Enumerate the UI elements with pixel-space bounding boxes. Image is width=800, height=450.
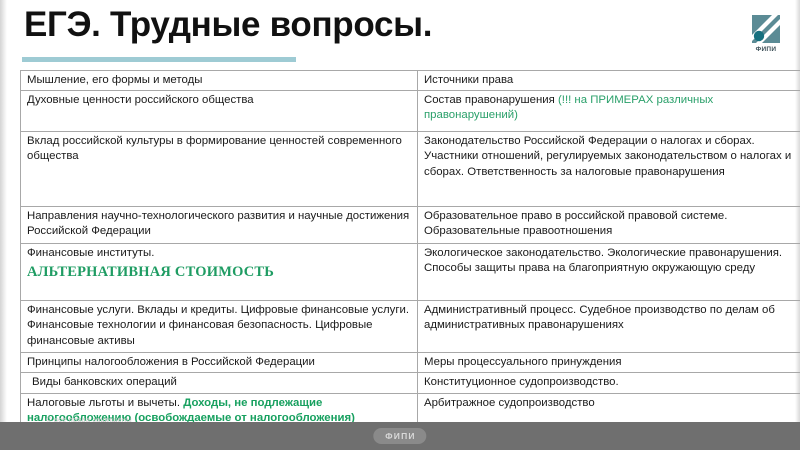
slide-left-edge-shadow xyxy=(0,0,7,422)
cell-text: Виды банковских операций xyxy=(32,376,177,388)
cell-text: Образовательное право в российской право… xyxy=(424,210,727,237)
cell-text: Финансовые услуги. Вклады и кредиты. Циф… xyxy=(27,304,409,346)
table-row: Мышление, его формы и методы Источники п… xyxy=(21,71,800,91)
table-row: Духовные ценности российского общества С… xyxy=(21,91,800,132)
table-row: Виды банковских операций Конституционное… xyxy=(21,373,800,393)
cell-text: Вклад российской культуры в формирование… xyxy=(27,135,402,162)
cell-text-emphasis: АЛЬТЕРНАТИВНАЯ СТОИМОСТЬ xyxy=(27,265,412,280)
fipi-logo-label: ФИПИ xyxy=(742,46,790,53)
cell-text: Административный процесс. Судебное произ… xyxy=(424,304,775,331)
title-underline-rule xyxy=(22,57,296,62)
player-bottom-bar: ФИПИ xyxy=(0,422,800,450)
table-cell-left: Финансовые институты. АЛЬТЕРНАТИВНАЯ СТО… xyxy=(21,244,418,301)
cell-text: Законодательство Российской Федерации о … xyxy=(424,135,791,177)
table-cell-left: Направления научно-технологического разв… xyxy=(21,207,418,244)
cell-text: Принципы налогообложения в Российской Фе… xyxy=(27,356,315,368)
cell-text: Финансовые институты. xyxy=(27,247,154,259)
table-row: Финансовые институты. АЛЬТЕРНАТИВНАЯ СТО… xyxy=(21,244,800,301)
cell-text: Экологическое законодательство. Экологич… xyxy=(424,247,782,274)
fipi-logo-mark-icon xyxy=(750,13,782,45)
cell-text: Состав правонарушения xyxy=(424,94,558,106)
table-cell-right: Законодательство Российской Федерации о … xyxy=(418,132,800,207)
fipi-watermark-badge: ФИПИ xyxy=(373,428,426,444)
table-cell-left: Духовные ценности российского общества xyxy=(21,91,418,132)
fipi-logo: ФИПИ xyxy=(742,13,790,53)
slide-canvas: ЕГЭ. Трудные вопросы. ФИПИ Мышление, его… xyxy=(0,0,800,450)
table-cell-right: Источники права xyxy=(418,71,800,91)
table-cell-left: Принципы налогообложения в Российской Фе… xyxy=(21,353,418,373)
table-cell-right: Конституционное судопроизводство. xyxy=(418,373,800,393)
cell-text: Духовные ценности российского общества xyxy=(27,94,254,106)
table-cell-right: Образовательное право в российской право… xyxy=(418,207,800,244)
page-title: ЕГЭ. Трудные вопросы. xyxy=(24,5,432,45)
table-cell-right: Экологическое законодательство. Экологич… xyxy=(418,244,800,301)
cell-text: Мышление, его формы и методы xyxy=(27,74,202,86)
table-row: Направления научно-технологического разв… xyxy=(21,207,800,244)
cell-text: Направления научно-технологического разв… xyxy=(27,210,409,237)
table-cell-right: Административный процесс. Судебное произ… xyxy=(418,301,800,353)
table-cell-left: Вклад российской культуры в формирование… xyxy=(21,132,418,207)
cell-text: Конституционное судопроизводство. xyxy=(424,376,619,388)
topics-table: Мышление, его формы и методы Источники п… xyxy=(20,70,800,435)
cell-text: Источники права xyxy=(424,74,513,86)
table-row: Финансовые услуги. Вклады и кредиты. Циф… xyxy=(21,301,800,353)
cell-text: Арбитражное судопроизводство xyxy=(424,397,595,409)
table-cell-right: Состав правонарушения (!!! на ПРИМЕРАХ р… xyxy=(418,91,800,132)
table-cell-left: Мышление, его формы и методы xyxy=(21,71,418,91)
table-row: Вклад российской культуры в формирование… xyxy=(21,132,800,207)
cell-text: Меры процессуального принуждения xyxy=(424,356,622,368)
cell-text: Налоговые льготы и вычеты. xyxy=(27,397,183,409)
table-cell-left: Виды банковских операций xyxy=(21,373,418,393)
table-cell-left: Финансовые услуги. Вклады и кредиты. Циф… xyxy=(21,301,418,353)
table-cell-right: Меры процессуального принуждения xyxy=(418,353,800,373)
table-row: Принципы налогообложения в Российской Фе… xyxy=(21,353,800,373)
